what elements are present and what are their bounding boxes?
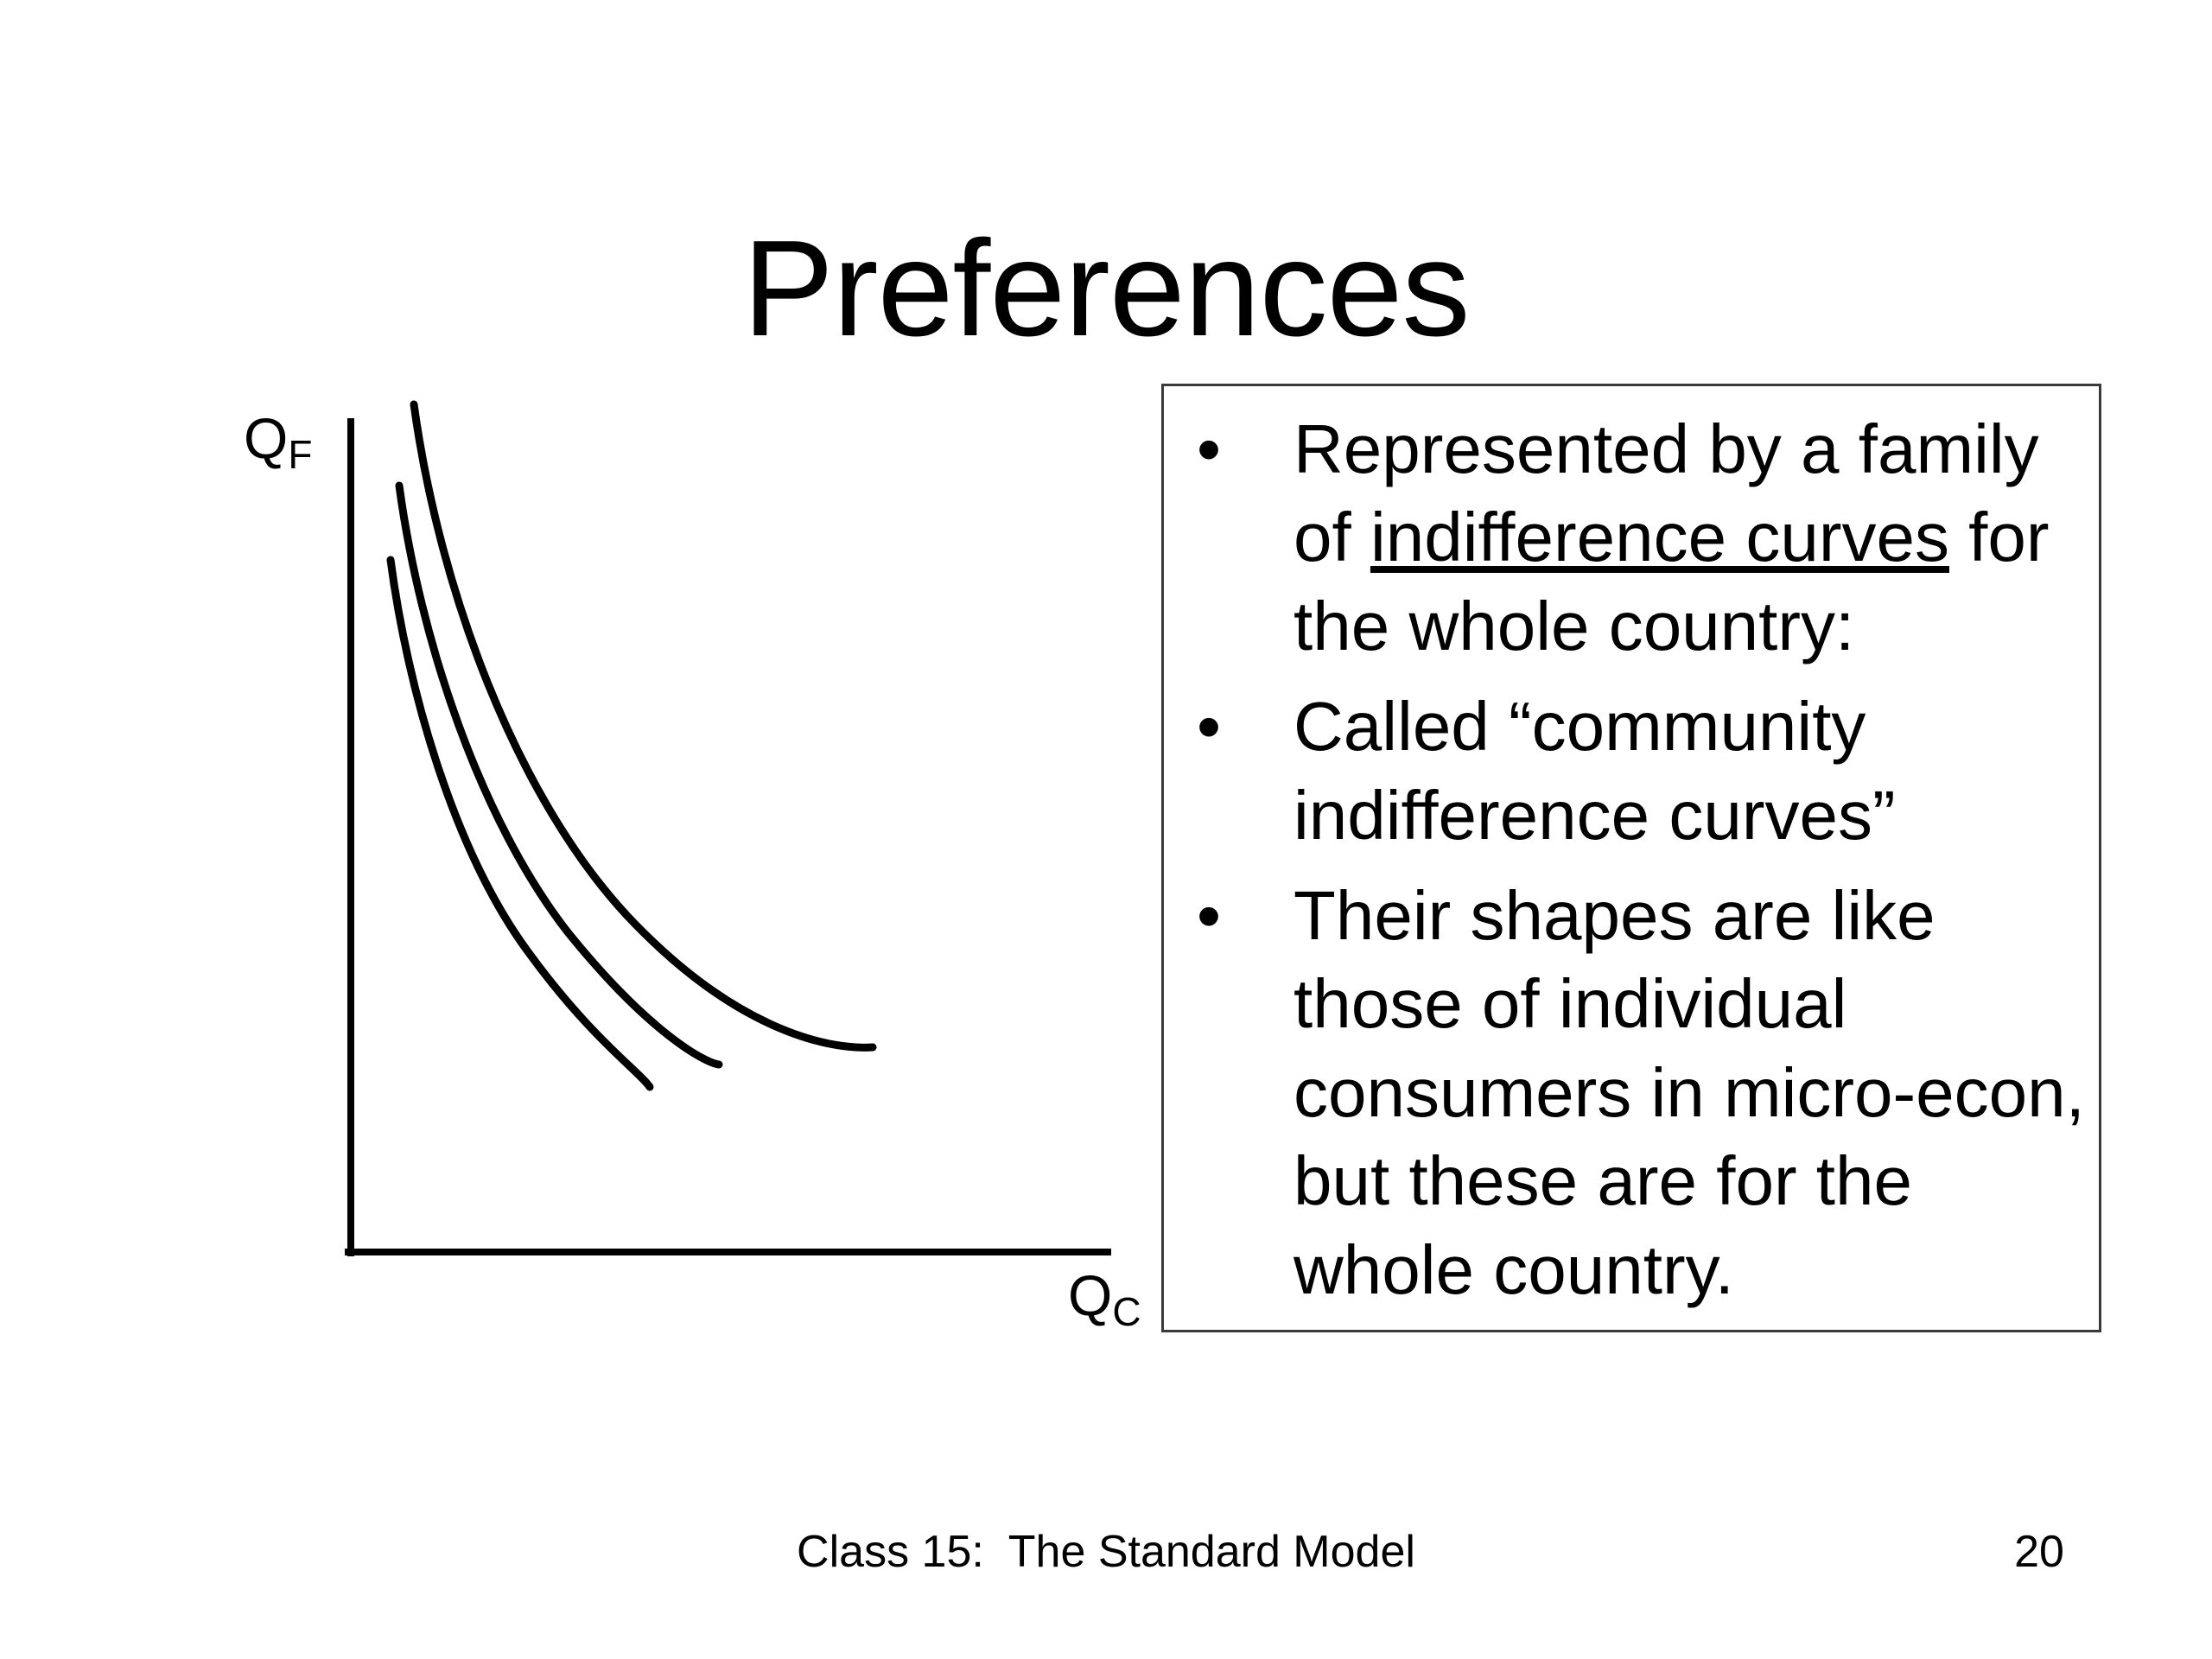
text-run: Their shapes are like those of individua… [1294, 877, 2085, 1308]
bullet-marker-icon: • [1197, 405, 1221, 493]
bullet-marker-icon: • [1197, 872, 1221, 960]
bullet-text: Represented by a family of indifference … [1294, 405, 2087, 671]
slide-canvas: Preferences QF QC •Represented by a fami… [0, 0, 2212, 1659]
content-text-box: •Represented by a family of indifference… [1161, 384, 2101, 1332]
footer-note: Class 15: The Standard Model [0, 1528, 2212, 1577]
emphasized-term: indifference curves [1370, 499, 1949, 575]
x-axis-label-base: Q [1068, 1263, 1112, 1327]
indifference-curves-chart: QF QC [207, 380, 1166, 1348]
bullet-text: Called “community indifference curves” [1294, 683, 2087, 860]
bullet-item: •Represented by a family of indifference… [1192, 405, 2087, 671]
x-axis-label-subscript: C [1112, 1289, 1141, 1334]
indifference-curve-3 [414, 404, 873, 1047]
bullet-item: •Their shapes are like those of individu… [1192, 872, 2087, 1314]
page-title: Preferences [0, 213, 2212, 365]
bullet-marker-icon: • [1197, 683, 1221, 771]
chart-svg [207, 380, 1166, 1348]
y-axis-label-base: Q [244, 406, 288, 470]
bullet-text: Their shapes are like those of individua… [1294, 872, 2087, 1314]
bullet-list: •Represented by a family of indifference… [1164, 386, 2099, 1314]
y-axis-label-subscript: F [288, 432, 312, 477]
bullet-item: •Called “community indifference curves” [1192, 683, 2087, 860]
x-axis-label: QC [1068, 1267, 1141, 1324]
text-run: Called “community indifference curves” [1294, 688, 1896, 853]
page-number: 20 [1987, 1528, 2091, 1577]
y-axis-label: QF [244, 410, 312, 467]
